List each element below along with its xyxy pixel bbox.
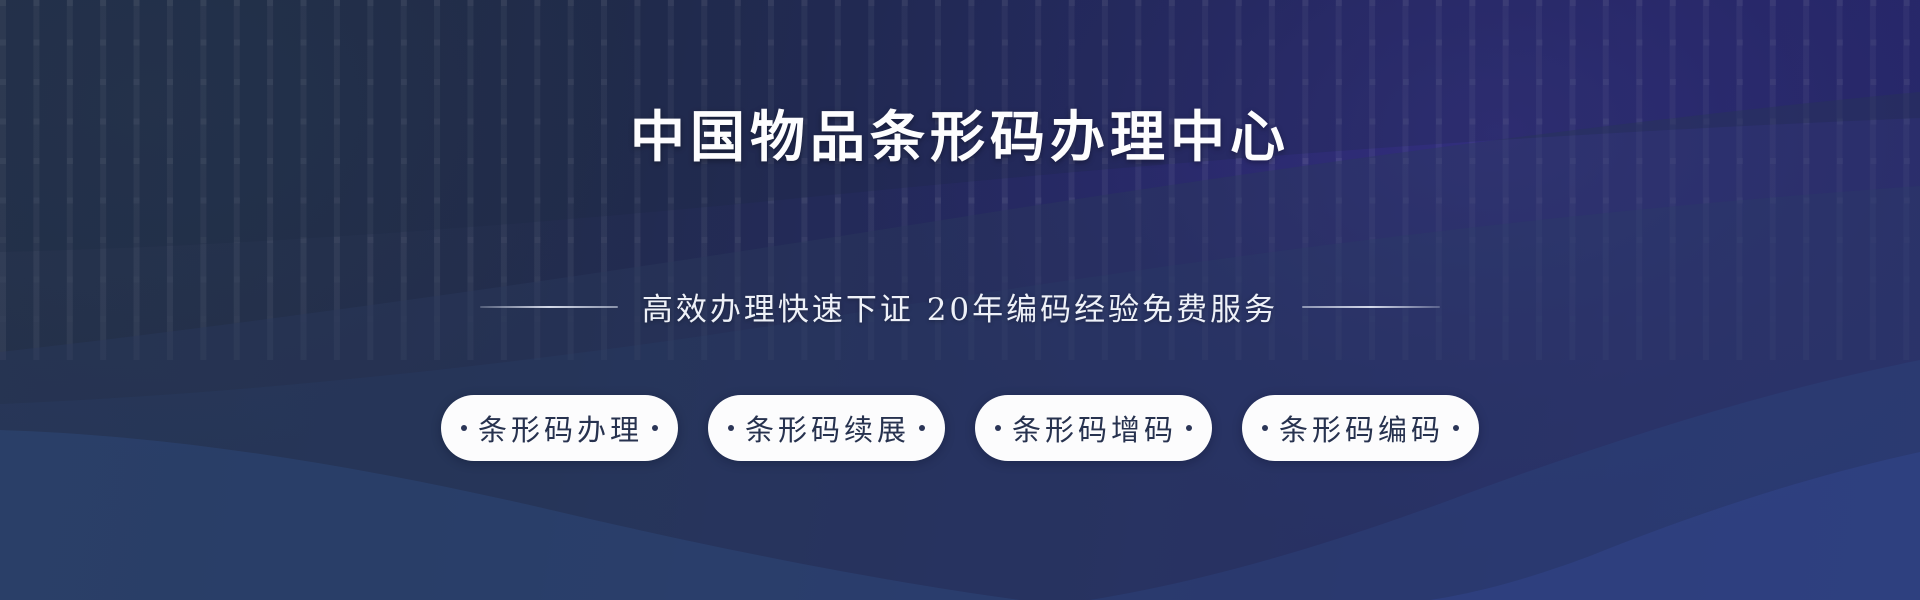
dot-icon-right xyxy=(1453,425,1459,431)
service-pill-label: 条形码编码 xyxy=(1277,407,1444,449)
service-pill-barcode-addcode[interactable]: 条形码增码 xyxy=(975,395,1212,461)
dot-icon-left xyxy=(461,425,467,431)
service-pill-row: 条形码办理 条形码续展 条形码增码 条形码编码 xyxy=(0,395,1920,461)
service-pill-barcode-apply[interactable]: 条形码办理 xyxy=(441,395,678,461)
dot-icon-left xyxy=(728,425,734,431)
banner-content: 中国物品条形码办理中心 高效办理快速下证 20年编码经验免费服务 条形码办理 条… xyxy=(0,0,1920,600)
rule-left-icon xyxy=(480,306,618,308)
dot-icon-left xyxy=(995,425,1001,431)
service-pill-label: 条形码续展 xyxy=(743,407,910,449)
service-pill-label: 条形码增码 xyxy=(1010,407,1177,449)
page-title: 中国物品条形码办理中心 xyxy=(0,92,1920,172)
subtitle-row: 高效办理快速下证 20年编码经验免费服务 xyxy=(0,284,1920,329)
hero-banner: 中国物品条形码办理中心 高效办理快速下证 20年编码经验免费服务 条形码办理 条… xyxy=(0,0,1920,600)
service-pill-label: 条形码办理 xyxy=(476,407,643,449)
dot-icon-right xyxy=(919,425,925,431)
dot-icon-right xyxy=(652,425,658,431)
service-pill-barcode-renew[interactable]: 条形码续展 xyxy=(708,395,945,461)
rule-right-icon xyxy=(1302,306,1440,308)
subtitle-text: 高效办理快速下证 20年编码经验免费服务 xyxy=(642,284,1278,329)
dot-icon-left xyxy=(1262,425,1268,431)
dot-icon-right xyxy=(1186,425,1192,431)
service-pill-barcode-encode[interactable]: 条形码编码 xyxy=(1242,395,1479,461)
